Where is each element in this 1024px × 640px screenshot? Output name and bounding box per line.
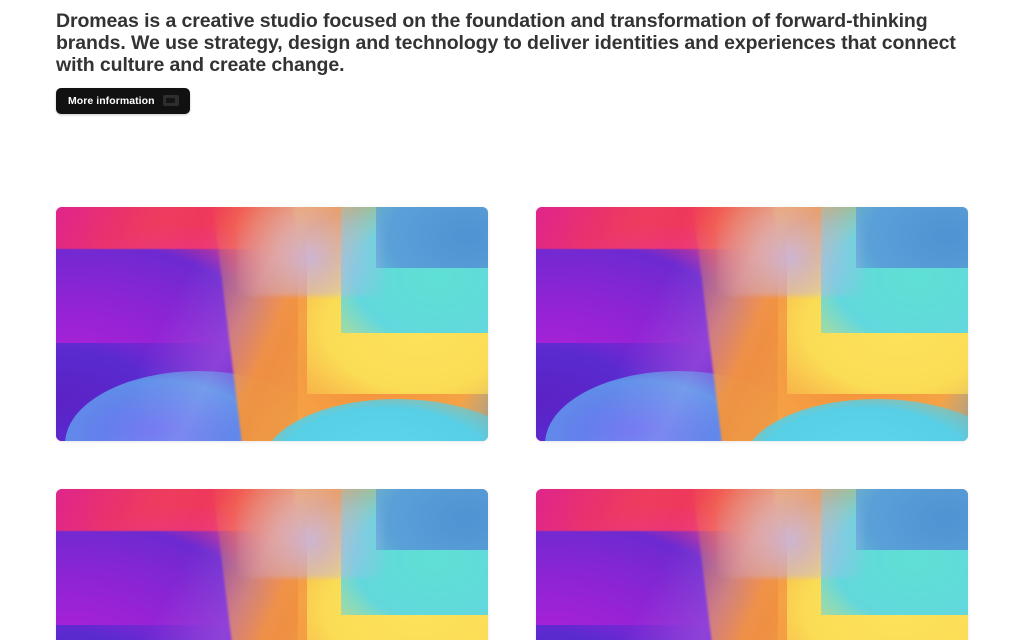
gallery-card[interactable] [536, 489, 968, 640]
badge-icon [163, 95, 179, 106]
gallery-card[interactable] [56, 489, 488, 640]
page-root: Dromeas is a creative studio focused on … [0, 0, 1024, 640]
gallery-grid [56, 207, 968, 640]
gradient-artwork [56, 489, 488, 640]
more-information-button-label: More information [68, 95, 155, 107]
page-title: Dromeas is a creative studio focused on … [56, 10, 976, 77]
gradient-sheen [536, 207, 968, 441]
gradient-sheen [56, 207, 488, 441]
intro-section: Dromeas is a creative studio focused on … [56, 10, 976, 114]
gradient-sheen [56, 489, 488, 640]
gallery-card[interactable] [536, 207, 968, 441]
gradient-artwork [56, 207, 488, 441]
gradient-artwork [536, 207, 968, 441]
gallery-card[interactable] [56, 207, 488, 441]
gradient-sheen [536, 489, 968, 640]
more-information-button[interactable]: More information [56, 88, 190, 114]
gradient-artwork [536, 489, 968, 640]
